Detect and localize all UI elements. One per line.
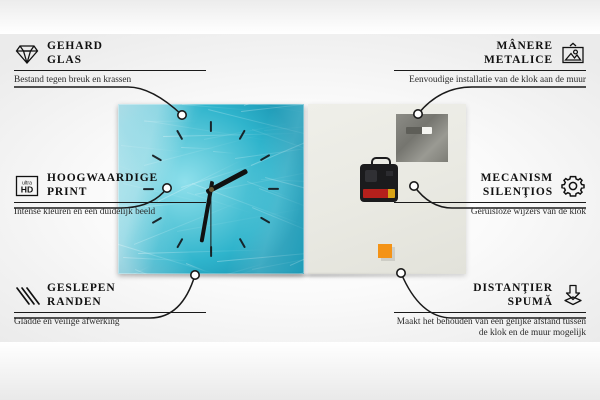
callout-divider: [394, 202, 586, 203]
metal-hanger-plate: [396, 114, 448, 162]
callout-description: Gladde en veilige afwerking: [14, 317, 206, 329]
callout-description: Eenvoudige installatie van de klok aan d…: [394, 75, 586, 87]
diamond-icon: [14, 42, 40, 66]
callout-title: HOOGWAARDIGE PRINT: [47, 172, 158, 199]
callout-hoogwaardige-print: ultra HD HOOGWAARDIGE PRINT Intense kleu…: [14, 172, 206, 218]
picture-hanger-icon: [560, 42, 586, 66]
callout-header: MECANISM SILENŢIOS: [394, 172, 586, 199]
infographic-canvas: GEHARD GLAS Bestand tegen breuk en krass…: [0, 0, 600, 400]
background-gradient-top: [0, 0, 600, 34]
gear-icon: [560, 174, 586, 198]
beveled-edges-icon: [14, 284, 40, 308]
hanger-keyhole-slot: [406, 127, 432, 134]
callout-distantier-spuma: DISTANŢIER SPUMĂ Maakt het behouden van …: [394, 282, 586, 340]
callout-divider: [394, 312, 586, 313]
spacer-down-arrow-icon: [560, 284, 586, 308]
svg-text:HD: HD: [21, 184, 33, 194]
callout-header: GEHARD GLAS: [14, 40, 206, 67]
callout-divider: [394, 70, 586, 71]
callout-mecanism-silentios: MECANISM SILENŢIOS Geruisloze wijzers va…: [394, 172, 586, 218]
ultra-hd-icon: ultra HD: [14, 174, 40, 198]
callout-divider: [14, 202, 206, 203]
callout-geslepen-randen: GESLEPEN RANDEN Gladde en veilige afwerk…: [14, 282, 206, 328]
callout-header: ultra HD HOOGWAARDIGE PRINT: [14, 172, 206, 199]
callout-header: GESLEPEN RANDEN: [14, 282, 206, 309]
callout-header: MÂNERE METALICE: [394, 40, 586, 67]
battery: [363, 189, 395, 198]
callout-description: Bestand tegen breuk en krassen: [14, 75, 206, 87]
callout-title: GEHARD GLAS: [47, 40, 103, 67]
mechanism-hanger-loop: [371, 157, 391, 168]
callout-description: Geruisloze wijzers van de klok: [394, 207, 586, 219]
silent-quartz-mechanism: [360, 164, 398, 202]
product-shadow: [118, 274, 466, 277]
callout-title: GESLEPEN RANDEN: [47, 282, 116, 309]
background-gradient-bottom: [0, 342, 600, 400]
callout-gehard-glas: GEHARD GLAS Bestand tegen breuk en krass…: [14, 40, 206, 86]
orange-foam-spacer: [378, 244, 392, 258]
callout-title: MECANISM SILENŢIOS: [481, 172, 553, 199]
callout-title: MÂNERE METALICE: [484, 40, 553, 67]
mechanism-detail: [365, 170, 377, 182]
callout-header: DISTANŢIER SPUMĂ: [394, 282, 586, 309]
callout-description: Intense kleuren en een duidelijk beeld: [14, 207, 206, 219]
callout-manere-metalice: MÂNERE METALICE Eenvoudige installatie v…: [394, 40, 586, 86]
callout-description: Maakt het behouden van een gelijke afsta…: [394, 317, 586, 340]
callout-divider: [14, 70, 206, 71]
callout-title: DISTANŢIER SPUMĂ: [473, 282, 553, 309]
mechanism-detail: [386, 171, 393, 176]
callout-divider: [14, 312, 206, 313]
